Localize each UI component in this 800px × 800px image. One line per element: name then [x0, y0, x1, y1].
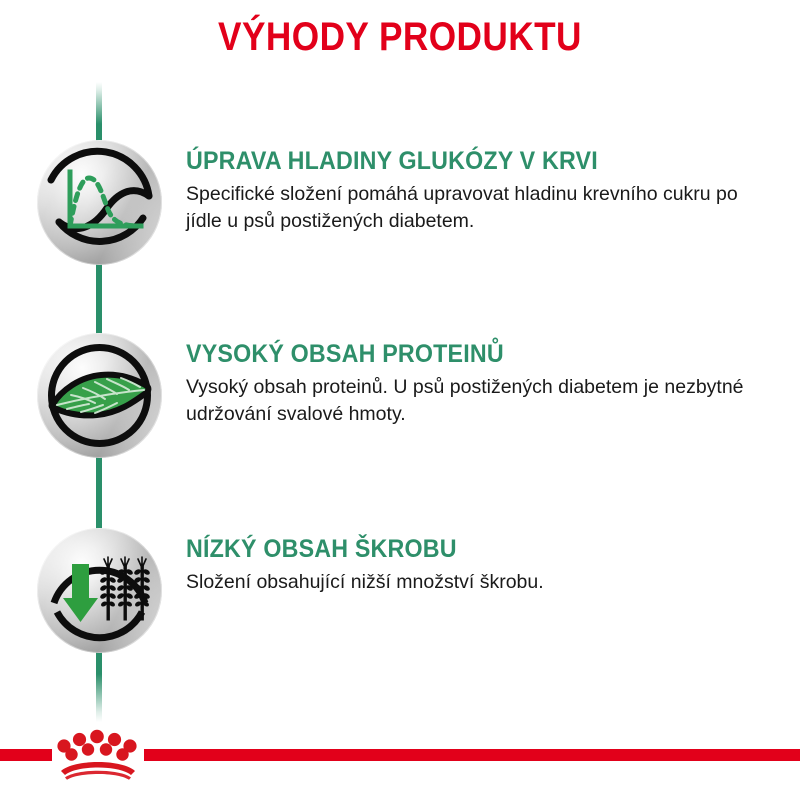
benefit-text-2: VYSOKÝ OBSAH PROTEINŮ Vysoký obsah prote…: [186, 339, 766, 428]
benefit-icon-badge-1: [37, 140, 162, 265]
benefit-icon-badge-2: [37, 333, 162, 458]
benefit-body-1: Specifické složení pomáhá upravovat hlad…: [186, 181, 756, 235]
footer-bar-left: [0, 749, 52, 761]
benefit-heading-3: NÍZKÝ OBSAH ŠKROBU: [186, 534, 725, 564]
blood-glucose-curve-icon: [37, 140, 162, 265]
page-title: VÝHODY PRODUKTU: [48, 14, 752, 60]
benefit-body-3: Složení obsahující nižší množství škrobu…: [186, 569, 756, 596]
benefit-icon-badge-3: [37, 528, 162, 653]
product-benefits-page: VÝHODY PRODUKTU ÚPRAVA HLADINY GLUKÓZY V…: [0, 0, 800, 800]
benefit-body-2: Vysoký obsah proteinů. U psů postižených…: [186, 374, 756, 428]
benefit-heading-2: VYSOKÝ OBSAH PROTEINŮ: [186, 339, 725, 369]
benefit-text-1: ÚPRAVA HLADINY GLUKÓZY V KRVI Specifické…: [186, 146, 766, 235]
benefit-heading-1: ÚPRAVA HLADINY GLUKÓZY V KRVI: [186, 146, 725, 176]
royal-canin-crown-logo: [52, 726, 144, 780]
benefit-text-3: NÍZKÝ OBSAH ŠKROBU Složení obsahující ni…: [186, 534, 766, 596]
footer-bar-right: [144, 749, 800, 761]
low-starch-wheat-arrow-icon: [37, 528, 162, 653]
leaf-protein-icon: [37, 333, 162, 458]
